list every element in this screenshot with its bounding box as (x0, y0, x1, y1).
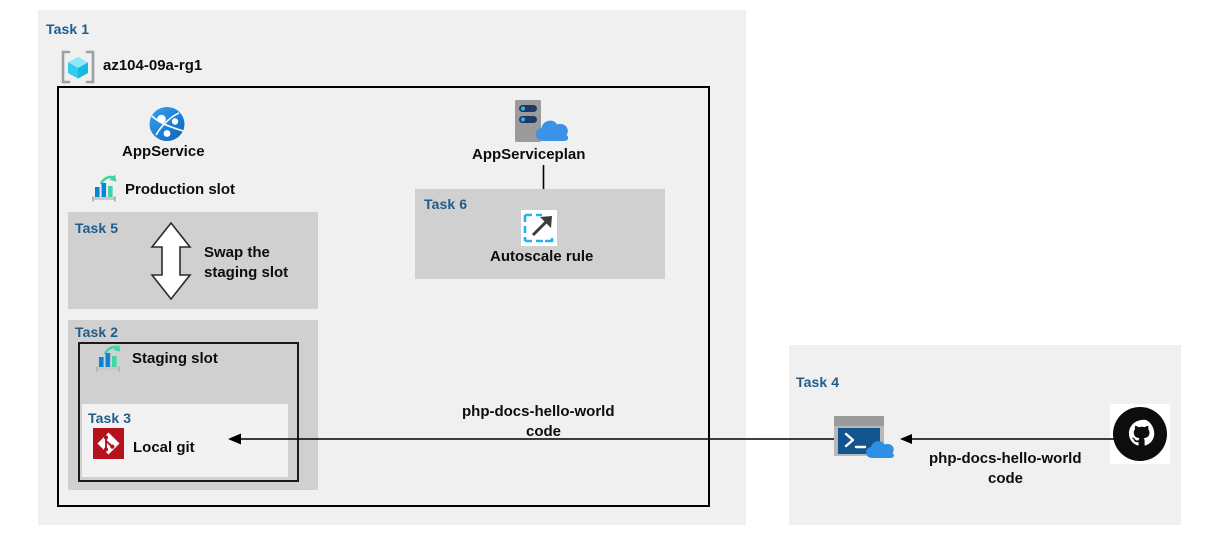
autoscale-arrow-icon (521, 210, 557, 246)
resource-group-name: az104-09a-rg1 (103, 57, 202, 74)
app-service-globe-icon (146, 104, 188, 144)
app-service-plan-icon (512, 98, 574, 146)
deployment-slot-icon (88, 174, 120, 204)
task3-label: Task 3 (88, 410, 131, 426)
task5-label: Task 5 (75, 220, 118, 236)
production-slot-label: Production slot (125, 181, 235, 198)
task4-code-label-line1: php-docs-hello-world (929, 449, 1081, 469)
task5-action-line1: Swap the (204, 243, 270, 263)
task2-label: Task 2 (75, 324, 118, 340)
deployment-slot-icon (92, 344, 124, 374)
diagram-canvas: Task 1 az104-09a-rg1 AppService (0, 0, 1218, 545)
task4-label: Task 4 (796, 374, 839, 390)
task6-label: Task 6 (424, 196, 467, 212)
appserviceplan-label: AppServiceplan (472, 146, 585, 163)
task4-code-label-line2: code (988, 469, 1023, 489)
connector-github-to-cloudshell (900, 428, 1116, 450)
cloud-shell-icon (832, 414, 900, 460)
task5-action-line2: staging slot (204, 263, 288, 283)
git-icon (93, 428, 124, 459)
github-octocat-icon (1110, 404, 1170, 464)
appservice-label: AppService (122, 143, 205, 160)
code-flow-label-line1: php-docs-hello-world (462, 402, 614, 422)
swap-double-arrow-icon (148, 221, 194, 301)
staging-slot-label: Staging slot (132, 350, 218, 367)
autoscale-rule-label: Autoscale rule (490, 248, 593, 265)
resource-group-cube-icon (60, 50, 96, 84)
local-git-label: Local git (133, 439, 195, 456)
connector-cloudshell-to-localgit (228, 428, 834, 450)
task1-label: Task 1 (46, 21, 89, 37)
